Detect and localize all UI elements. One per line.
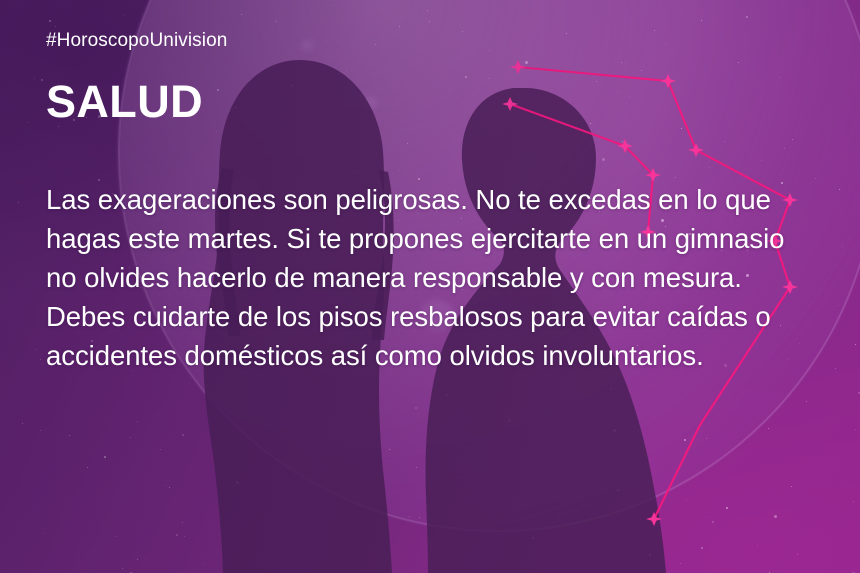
horoscope-body-text: Las exageraciones son peligrosas. No te … bbox=[46, 180, 818, 375]
hashtag-label: #HoroscopoUnivision bbox=[46, 30, 816, 52]
page-title: SALUD bbox=[46, 76, 816, 128]
horoscope-card: #HoroscopoUnivision SALUD Las exageracio… bbox=[0, 0, 860, 573]
card-content: #HoroscopoUnivision SALUD Las exageracio… bbox=[0, 0, 860, 573]
